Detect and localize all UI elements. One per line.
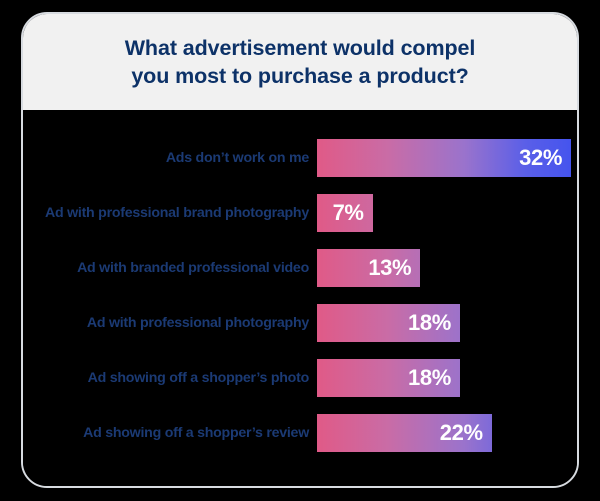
bar-value-label: 18% [408,312,451,334]
bar-category-label: Ad with professional brand photography [23,205,317,221]
bar-value-label: 13% [368,257,411,279]
bar-category-label: Ad showing off a shopper’s review [23,425,317,441]
bar-fill: 7% [317,194,373,232]
bar-fill: 32% [317,139,571,177]
bar-category-label: Ad with professional photography [23,315,317,331]
bar-fill: 18% [317,304,460,342]
bar-track: 18% [317,304,577,342]
bar-list: Ads don’t work on me 32% Ad with profess… [23,139,577,452]
bar-track: 7% [317,194,577,232]
bar-row: Ad with branded professional video 13% [23,249,577,287]
bar-value-label: 18% [408,367,451,389]
bar-category-label: Ad with branded professional video [23,260,317,276]
bar-value-label: 32% [519,147,562,169]
page-title: What advertisement would compel you most… [109,34,492,91]
bar-track: 22% [317,414,577,452]
bar-track: 13% [317,249,577,287]
bar-row: Ad with professional brand photography 7… [23,194,577,232]
bar-value-label: 7% [333,202,364,224]
bar-value-label: 22% [440,422,483,444]
bar-category-label: Ads don’t work on me [23,150,317,166]
bar-chart: Ads don’t work on me 32% Ad with profess… [23,110,577,486]
bar-track: 18% [317,359,577,397]
chart-header: What advertisement would compel you most… [23,14,577,110]
bar-fill: 22% [317,414,492,452]
bar-fill: 18% [317,359,460,397]
bar-row: Ads don’t work on me 32% [23,139,577,177]
bar-row: Ad showing off a shopper’s review 22% [23,414,577,452]
bar-fill: 13% [317,249,420,287]
infographic-card: What advertisement would compel you most… [21,12,579,488]
bar-track: 32% [317,139,577,177]
bar-row: Ad showing off a shopper’s photo 18% [23,359,577,397]
bar-category-label: Ad showing off a shopper’s photo [23,370,317,386]
bar-row: Ad with professional photography 18% [23,304,577,342]
